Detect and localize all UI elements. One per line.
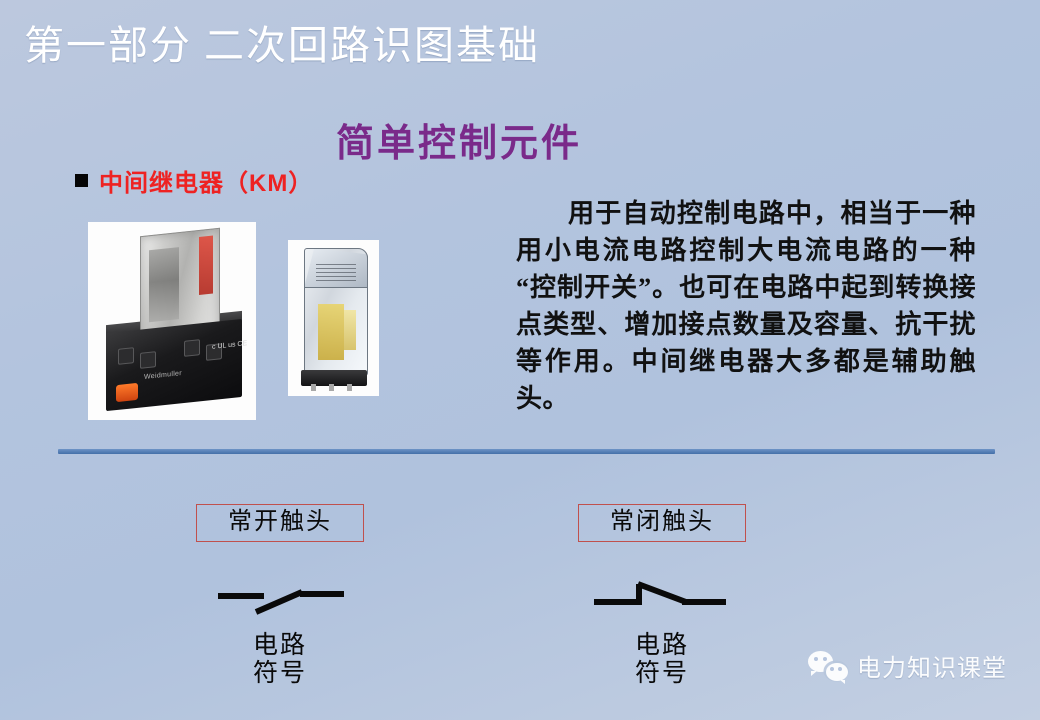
relay-coil-body: [318, 304, 344, 360]
bullet-item-label: 中间继电器（KM）: [99, 163, 313, 198]
horizontal-divider: [58, 449, 995, 454]
socket-terminal: [140, 351, 156, 369]
square-bullet-icon: [75, 174, 88, 187]
symbol-caption-normally-closed: 电路 符号: [578, 632, 746, 688]
normally-open-contact-icon: [196, 570, 364, 626]
wechat-watermark: 电力知识课堂: [808, 648, 1007, 683]
symbol-caption-line2: 符号: [578, 660, 746, 688]
wechat-icon: [808, 651, 848, 681]
symbol-group-normally-closed: 常闭触头 电路 符号: [578, 504, 746, 688]
socket-terminal: [118, 347, 134, 365]
relay-base-plate: [301, 370, 367, 386]
normally-closed-contact-icon: [578, 570, 746, 626]
socket-terminal: [184, 339, 200, 357]
symbol-caption-line2: 符号: [196, 660, 364, 688]
symbol-label-normally-closed: 常闭触头: [578, 504, 746, 542]
symbol-caption-line1: 电路: [578, 632, 746, 660]
relay-internal-contacts: [149, 247, 179, 322]
relay-red-indicator: [199, 236, 213, 295]
relay-photo-plug-in-socket: Weidmuller c UL us CE: [88, 222, 256, 420]
slide-canvas: 第一部分 二次回路识图基础 简单控制元件 中间继电器（KM） Weidmulle…: [0, 0, 1040, 720]
symbol-group-normally-open: 常开触头 电路 符号: [196, 504, 364, 688]
relay-photo-transparent-case: [288, 240, 379, 396]
relay-coil-secondary: [344, 310, 356, 350]
section-title: 第一部分 二次回路识图基础: [24, 22, 540, 69]
description-paragraph: 用于自动控制电路中，相当于一种用小电流电路控制大电流电路的一种“控制开关”。也可…: [516, 196, 976, 417]
bullet-item-relay: 中间继电器（KM）: [75, 163, 313, 198]
page-title: 简单控制元件: [336, 112, 582, 167]
socket-retaining-clip: [116, 383, 138, 402]
relay-rating-label: [316, 264, 356, 290]
symbol-caption-normally-open: 电路 符号: [196, 632, 364, 688]
watermark-label: 电力知识课堂: [857, 648, 1007, 683]
symbol-caption-line1: 电路: [196, 632, 364, 660]
symbol-label-normally-open: 常开触头: [196, 504, 364, 542]
